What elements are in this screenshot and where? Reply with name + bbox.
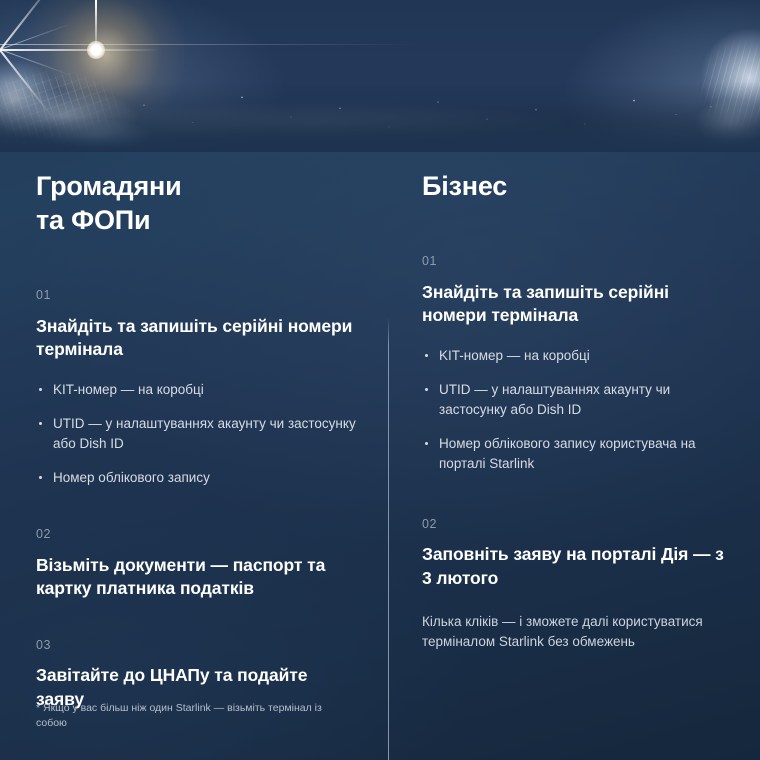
list-item: Номер облікового запису користувача на п…: [422, 434, 734, 473]
business-step-01: 01 Знайдіть та запишіть серійні номери т…: [422, 255, 734, 474]
citizens-step-03-number: 03: [36, 639, 358, 652]
citizens-step-02-number: 02: [36, 528, 358, 541]
column-citizens-title: Громадяни та ФОПи: [36, 152, 358, 237]
citizens-step-01-bullets: KIT-номер — на коробці UTID — у налаштув…: [36, 380, 358, 488]
citizens-step-01: 01 Знайдіть та запишіть серійні номери т…: [36, 289, 358, 488]
hero-bottom-fade: [0, 82, 760, 152]
citizens-step-01-title: Знайдіть та запишіть серійні номери терм…: [36, 315, 358, 362]
business-step-01-number: 01: [422, 255, 734, 268]
business-step-02: 02 Заповніть заяву на порталі Дія — з 3 …: [422, 518, 734, 653]
list-item: UTID — у налаштуваннях акаунту чи застос…: [36, 414, 358, 453]
business-step-01-title: Знайдіть та запишіть серійні номери терм…: [422, 281, 734, 328]
list-item: Номер облікового запису: [36, 468, 358, 488]
business-step-02-title: Заповніть заяву на порталі Дія — з 3 лют…: [422, 543, 734, 590]
column-business-title: Бізнес: [422, 152, 734, 203]
column-citizens-title-line-1: Громадяни: [36, 171, 182, 201]
list-item: KIT-номер — на коробці: [422, 346, 734, 366]
lens-flare-core-icon: [87, 41, 105, 59]
list-item: KIT-номер — на коробці: [36, 380, 358, 400]
citizens-step-02: 02 Візьміть документи — паспорт та картк…: [36, 528, 358, 601]
flare-ray-horizontal: [0, 49, 160, 51]
infographic-page: Громадяни та ФОПи 01 Знайдіть та запишіт…: [0, 0, 760, 760]
business-step-02-number: 02: [422, 518, 734, 531]
list-item: UTID — у налаштуваннях акаунту чи застос…: [422, 380, 734, 419]
hero-banner: [0, 0, 760, 152]
column-business: Бізнес 01 Знайдіть та запишіть серійні н…: [388, 152, 760, 760]
business-step-01-bullets: KIT-номер — на коробці UTID — у налаштув…: [422, 346, 734, 474]
column-citizens-title-line-2: та ФОПи: [36, 205, 150, 235]
citizens-step-01-number: 01: [36, 289, 358, 302]
citizens-step-02-title: Візьміть документи — паспорт та картку п…: [36, 554, 358, 601]
column-divider: [388, 317, 389, 760]
column-citizens: Громадяни та ФОПи 01 Знайдіть та запишіт…: [0, 152, 388, 760]
footnote: * Якщо у вас більш ніж один Starlink — в…: [36, 701, 336, 733]
business-step-02-note: Кілька кліків — і зможете далі користува…: [422, 612, 734, 652]
columns-container: Громадяни та ФОПи 01 Знайдіть та запишіт…: [0, 152, 760, 760]
horizontal-light-streak: [0, 44, 420, 45]
